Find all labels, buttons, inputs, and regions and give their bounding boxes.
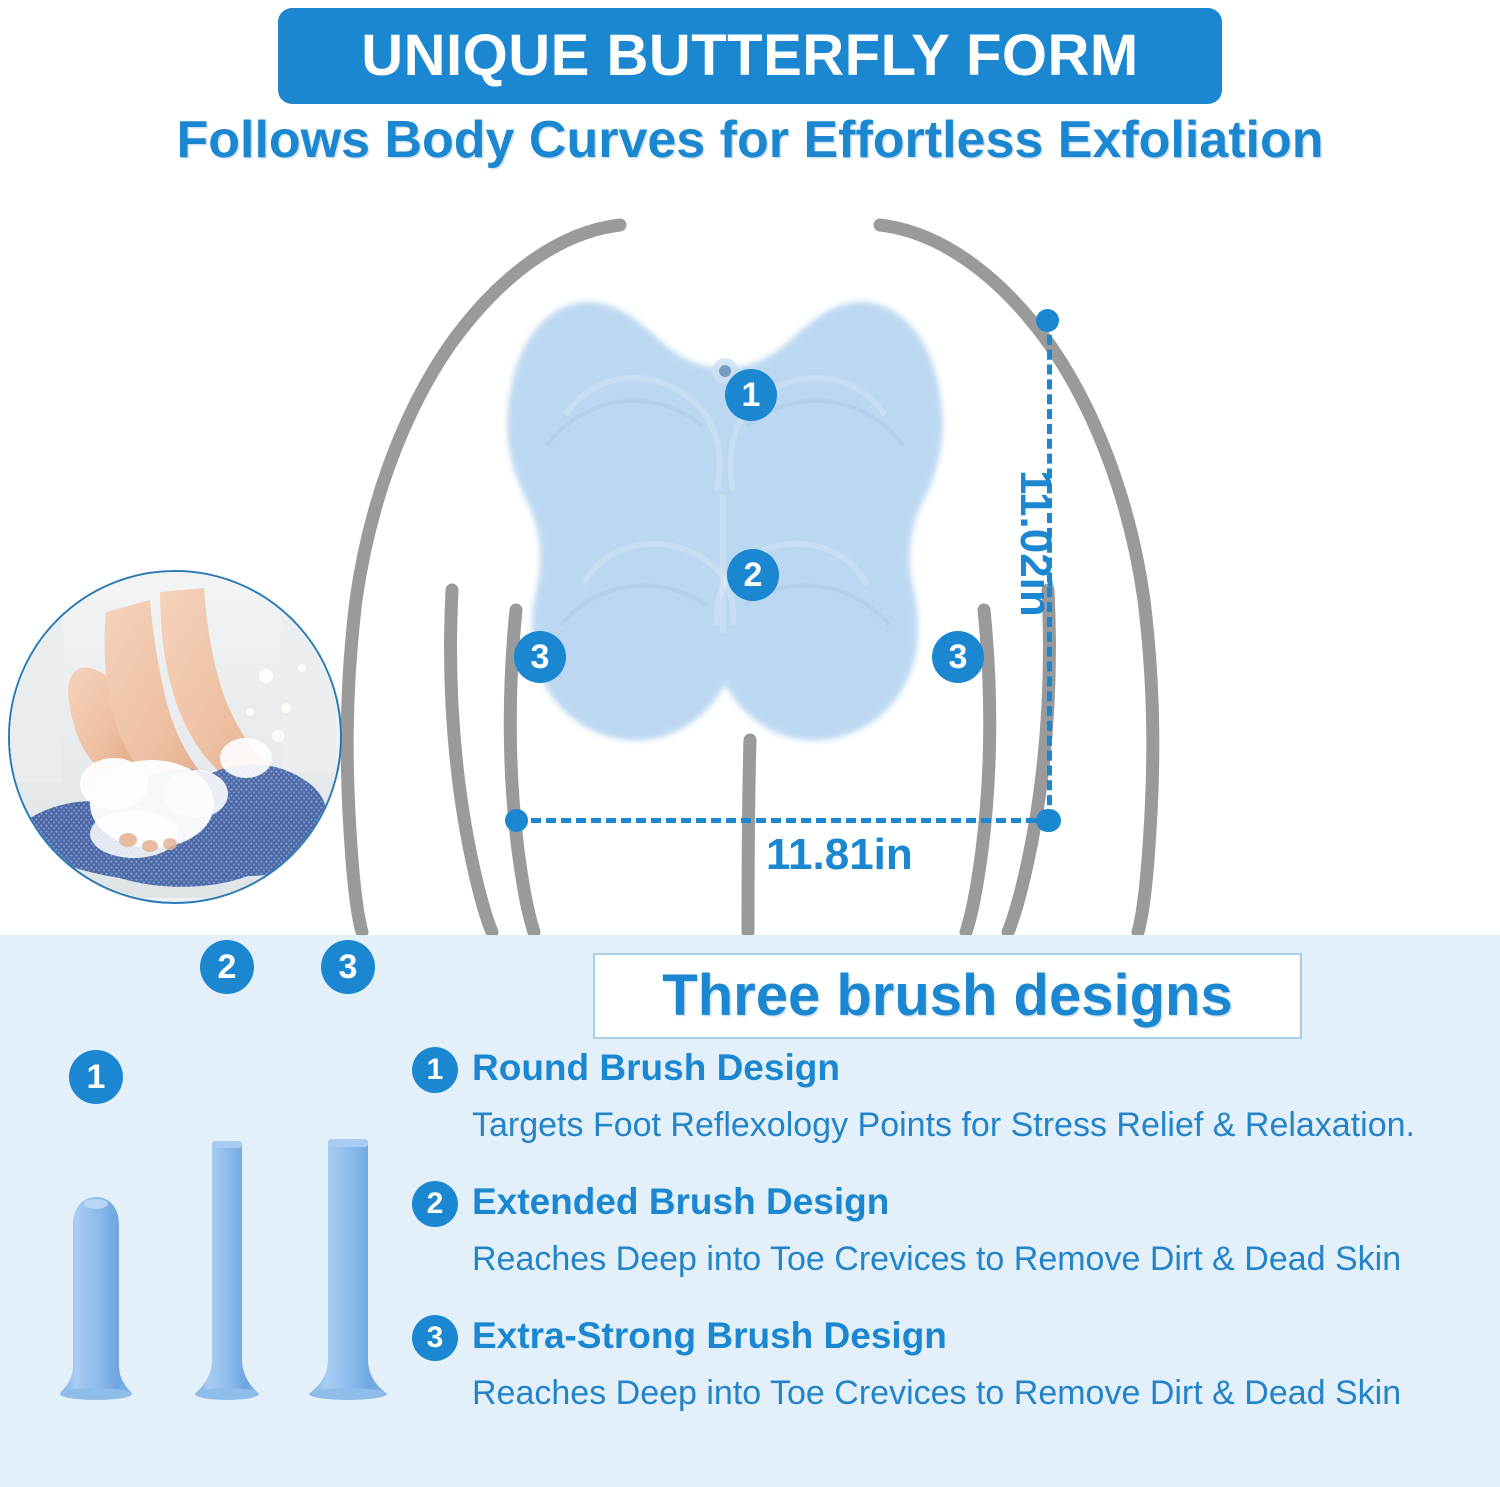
- design-item-1-description: Targets Foot Reflexology Points for Stre…: [472, 1103, 1415, 1147]
- mat-zone-badge-3-right: 3: [932, 631, 984, 683]
- mat-zone-badge-3-left-label: 3: [531, 640, 550, 674]
- designs-title-text: Three brush designs: [662, 967, 1232, 1025]
- mat-zone-badge-1: 1: [725, 369, 777, 421]
- bristle-badge-3-label: 3: [339, 950, 358, 984]
- height-dimension-label: 11.02in: [1010, 470, 1060, 617]
- mat-zone-badge-2: 2: [727, 549, 779, 601]
- hero-section: UNIQUE BUTTERFLY FORM Follows Body Curve…: [0, 0, 1500, 935]
- design-item-3-badge: 3: [412, 1315, 458, 1361]
- hero-subtitle: Follows Body Curves for Effortless Exfol…: [0, 112, 1500, 169]
- bristle-badge-2: 2: [200, 940, 254, 994]
- design-item-2-badge-label: 2: [427, 1189, 444, 1219]
- width-dimension-endpoint-right: [1038, 809, 1061, 832]
- height-dimension-endpoint-top: [1036, 309, 1059, 332]
- mat-zone-badge-3-left: 3: [514, 631, 566, 683]
- design-item-3-description: Reaches Deep into Toe Crevices to Remove…: [472, 1371, 1401, 1415]
- banner-title-text: UNIQUE BUTTERFLY FORM: [361, 27, 1138, 85]
- mat-zone-badge-3-right-label: 3: [949, 640, 968, 674]
- width-dimension-line: [516, 818, 1051, 823]
- butterfly-mat-product: [455, 285, 995, 795]
- bristle-badge-2-label: 2: [218, 950, 237, 984]
- design-item-1-badge: 1: [412, 1047, 458, 1093]
- design-item-1-badge-label: 1: [427, 1055, 444, 1085]
- bristle-badge-3: 3: [321, 940, 375, 994]
- designs-title-box: Three brush designs: [593, 953, 1302, 1039]
- bristle-comparison-illustration: 1 2 3: [40, 935, 410, 1487]
- design-item-3-badge-label: 3: [427, 1323, 444, 1353]
- width-dimension-endpoint-left: [505, 809, 528, 832]
- brush-designs-section: 1 2 3 Three brush designs 1 Round Brush …: [0, 935, 1500, 1487]
- design-item-2-heading: Extended Brush Design: [472, 1179, 889, 1225]
- design-item-2-badge: 2: [412, 1181, 458, 1227]
- banner-title-pill: UNIQUE BUTTERFLY FORM: [278, 8, 1222, 104]
- design-item-3-heading: Extra-Strong Brush Design: [472, 1313, 947, 1359]
- lifestyle-photo-inset: [8, 570, 342, 904]
- mat-zone-badge-1-label: 1: [742, 378, 761, 412]
- product-infographic: UNIQUE BUTTERFLY FORM Follows Body Curve…: [0, 0, 1500, 1487]
- mat-zone-badge-2-label: 2: [744, 558, 763, 592]
- design-item-1-heading: Round Brush Design: [472, 1045, 840, 1091]
- bristle-badge-1-label: 1: [87, 1060, 106, 1094]
- design-item-2-description: Reaches Deep into Toe Crevices to Remove…: [472, 1237, 1401, 1281]
- designs-text-panel: Three brush designs 1 Round Brush Design…: [408, 935, 1468, 1487]
- width-dimension-label: 11.81in: [766, 830, 913, 880]
- bristle-badge-1: 1: [69, 1050, 123, 1104]
